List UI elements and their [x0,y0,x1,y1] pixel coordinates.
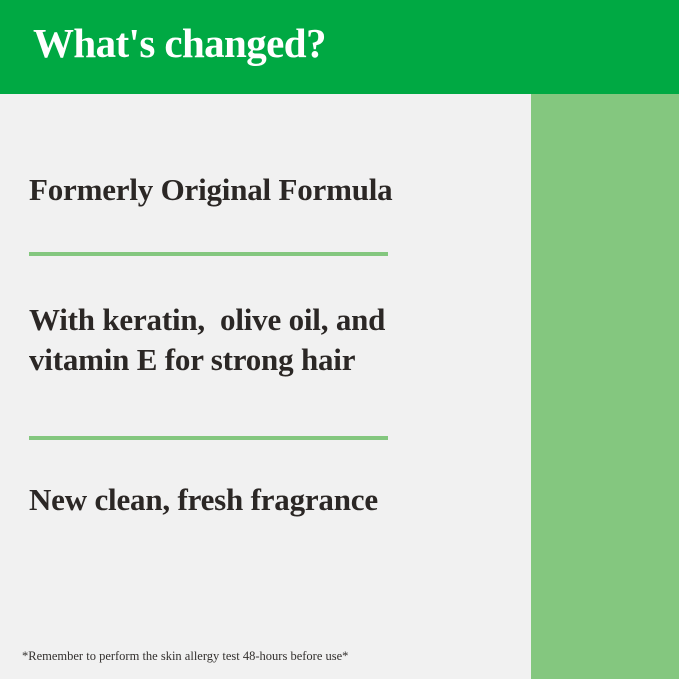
statement-formerly-original-formula: Formerly Original Formula [29,170,499,210]
accent-panel [531,94,679,679]
statement-ingredients: With keratin, olive oil, and vitamin E f… [29,300,499,380]
allergy-test-footnote: *Remember to perform the skin allergy te… [22,648,502,664]
page-title: What's changed? [33,18,326,68]
product-info-card: What's changed? Formerly Original Formul… [0,0,679,679]
content-area: Formerly Original Formula With keratin, … [0,94,531,679]
statement-fragrance: New clean, fresh fragrance [29,480,499,520]
divider-rule-2 [29,436,388,440]
divider-rule-1 [29,252,388,256]
header-band: What's changed? [0,0,679,94]
